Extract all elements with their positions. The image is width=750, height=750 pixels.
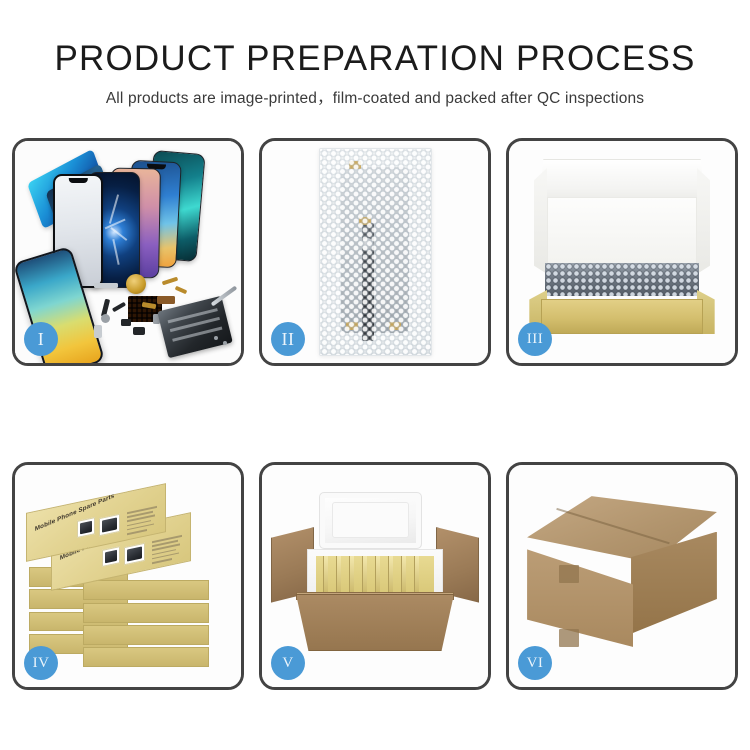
step-6-image: VI	[509, 465, 735, 687]
step-1-image: I	[15, 141, 241, 363]
process-step-panel-2[interactable]: II	[259, 138, 491, 366]
process-step-panel-6[interactable]: VI	[506, 462, 738, 690]
home-button-part	[101, 314, 110, 323]
screw-part	[223, 341, 227, 345]
foam-lid	[319, 492, 423, 550]
foam-sheet	[547, 197, 696, 268]
connector-board-part	[157, 296, 175, 304]
step-badge-6: VI	[518, 646, 552, 680]
camera-module-part	[121, 319, 131, 326]
step-5-image: V	[262, 465, 488, 687]
process-step-panel-5[interactable]: V	[259, 462, 491, 690]
kraft-box-front	[541, 299, 704, 335]
step-3-image: III	[509, 141, 735, 363]
step-badge-3: III	[518, 322, 552, 356]
step-badge-4: IV	[24, 646, 58, 680]
speaker-coil-icon	[126, 274, 146, 294]
step-2-image: II	[262, 141, 488, 363]
product-preparation-process-page: PRODUCT PREPARATION PROCESS All products…	[0, 0, 750, 750]
process-step-panel-1[interactable]: I	[12, 138, 244, 366]
earpiece-mesh-part	[94, 283, 118, 288]
retail-box-printed: Mobile Phone Spare Parts	[26, 498, 166, 547]
process-step-panel-4[interactable]: Mobile Phone Spare Parts Mobile Phone Sp…	[12, 462, 244, 690]
process-step-panel-3[interactable]: III	[506, 138, 738, 366]
box-side-right	[697, 168, 711, 275]
retail-box	[83, 625, 210, 645]
battery-connector-part	[94, 325, 102, 338]
carton-tape-upper	[559, 565, 579, 583]
step-badge-2: II	[271, 322, 305, 356]
bubble-wrapped-bundle	[545, 263, 699, 296]
page-title: PRODUCT PREPARATION PROCESS	[0, 38, 750, 80]
step-4-image: Mobile Phone Spare Parts Mobile Phone Sp…	[15, 465, 241, 687]
carton-tape-lower	[559, 629, 579, 647]
page-subtitle: All products are image-printed，film-coat…	[0, 89, 750, 109]
packed-retail-boxes	[316, 556, 434, 594]
process-step-grid: I II	[12, 138, 738, 690]
shipping-carton-open	[296, 594, 454, 652]
vibrator-motor-part	[133, 327, 145, 335]
retail-box	[83, 580, 210, 600]
carton-front-face	[527, 549, 633, 647]
page-header: PRODUCT PREPARATION PROCESS All products…	[0, 38, 750, 109]
retail-box	[83, 647, 210, 667]
step-badge-1: I	[24, 322, 58, 356]
bubble-wrap-bag	[319, 148, 432, 357]
box-side-left	[534, 168, 548, 275]
step-badge-5: V	[271, 646, 305, 680]
retail-box	[83, 603, 210, 623]
